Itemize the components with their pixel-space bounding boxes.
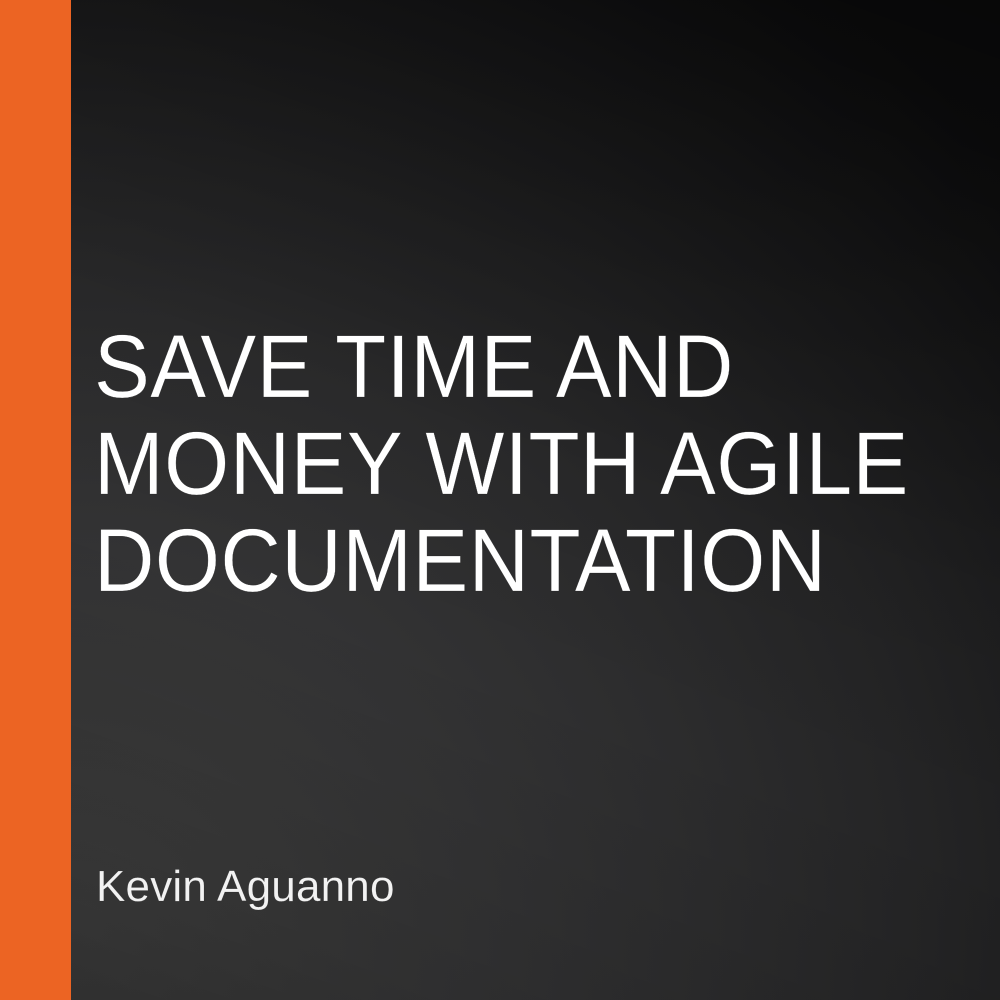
cover-content: SAVE TIME AND MONEY WITH AGILE DOCUMENTA… [0, 0, 1000, 1000]
title-line-1: SAVE TIME AND [94, 318, 874, 415]
title-line-3: DOCUMENTATION [94, 512, 874, 609]
audiobook-cover: SAVE TIME AND MONEY WITH AGILE DOCUMENTA… [0, 0, 1000, 1000]
orange-accent-stripe [0, 0, 71, 1000]
author-name: Kevin Aguanno [96, 862, 395, 912]
title-line-2: MONEY WITH AGILE [94, 415, 874, 512]
cover-title: SAVE TIME AND MONEY WITH AGILE DOCUMENTA… [94, 318, 924, 609]
